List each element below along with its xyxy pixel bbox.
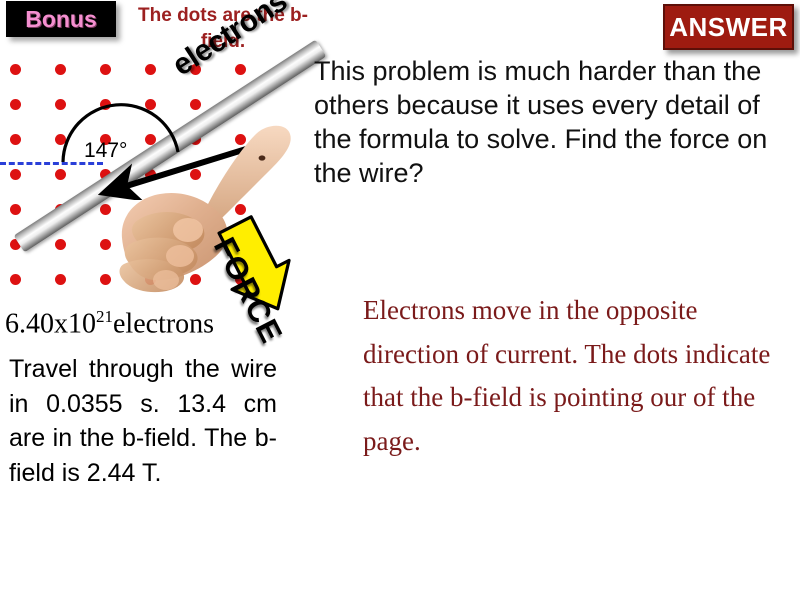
bfield-dot — [10, 134, 21, 145]
bfield-dot — [55, 99, 66, 110]
bfield-dot — [10, 204, 21, 215]
bfield-dot — [55, 274, 66, 285]
bfield-dot — [100, 64, 111, 75]
answer-badge-label: ANSWER — [669, 12, 788, 43]
bfield-dot — [10, 169, 21, 180]
bfield-dot — [145, 99, 156, 110]
bfield-dot — [55, 134, 66, 145]
bfield-dot — [235, 64, 246, 75]
bfield-dot — [100, 99, 111, 110]
electron-count-exponent: 21 — [96, 307, 113, 326]
electron-count-mantissa: 6.40x10 — [5, 308, 96, 339]
electron-count-value: 6.40x1021electrons — [5, 307, 214, 340]
bfield-dot — [55, 64, 66, 75]
bfield-dot — [145, 64, 156, 75]
problem-statement: This problem is much harder than the oth… — [314, 54, 780, 190]
slide-canvas: Bonus ANSWER The dots are the b-field. e… — [0, 0, 800, 600]
answer-badge: ANSWER — [663, 4, 794, 50]
bfield-dot — [55, 239, 66, 250]
bfield-dot — [190, 99, 201, 110]
bonus-badge-label: Bonus — [25, 6, 97, 33]
electron-count-unit: electrons — [113, 308, 214, 339]
bfield-dot — [10, 99, 21, 110]
bfield-dot — [10, 64, 21, 75]
bonus-badge: Bonus — [6, 1, 116, 37]
bfield-dot — [55, 169, 66, 180]
answer-explanation-text: Electrons move in the opposite direction… — [363, 289, 783, 464]
given-details-text: Travel through the wire in 0.0355 s. 13.… — [9, 352, 277, 490]
bfield-dot — [10, 274, 21, 285]
